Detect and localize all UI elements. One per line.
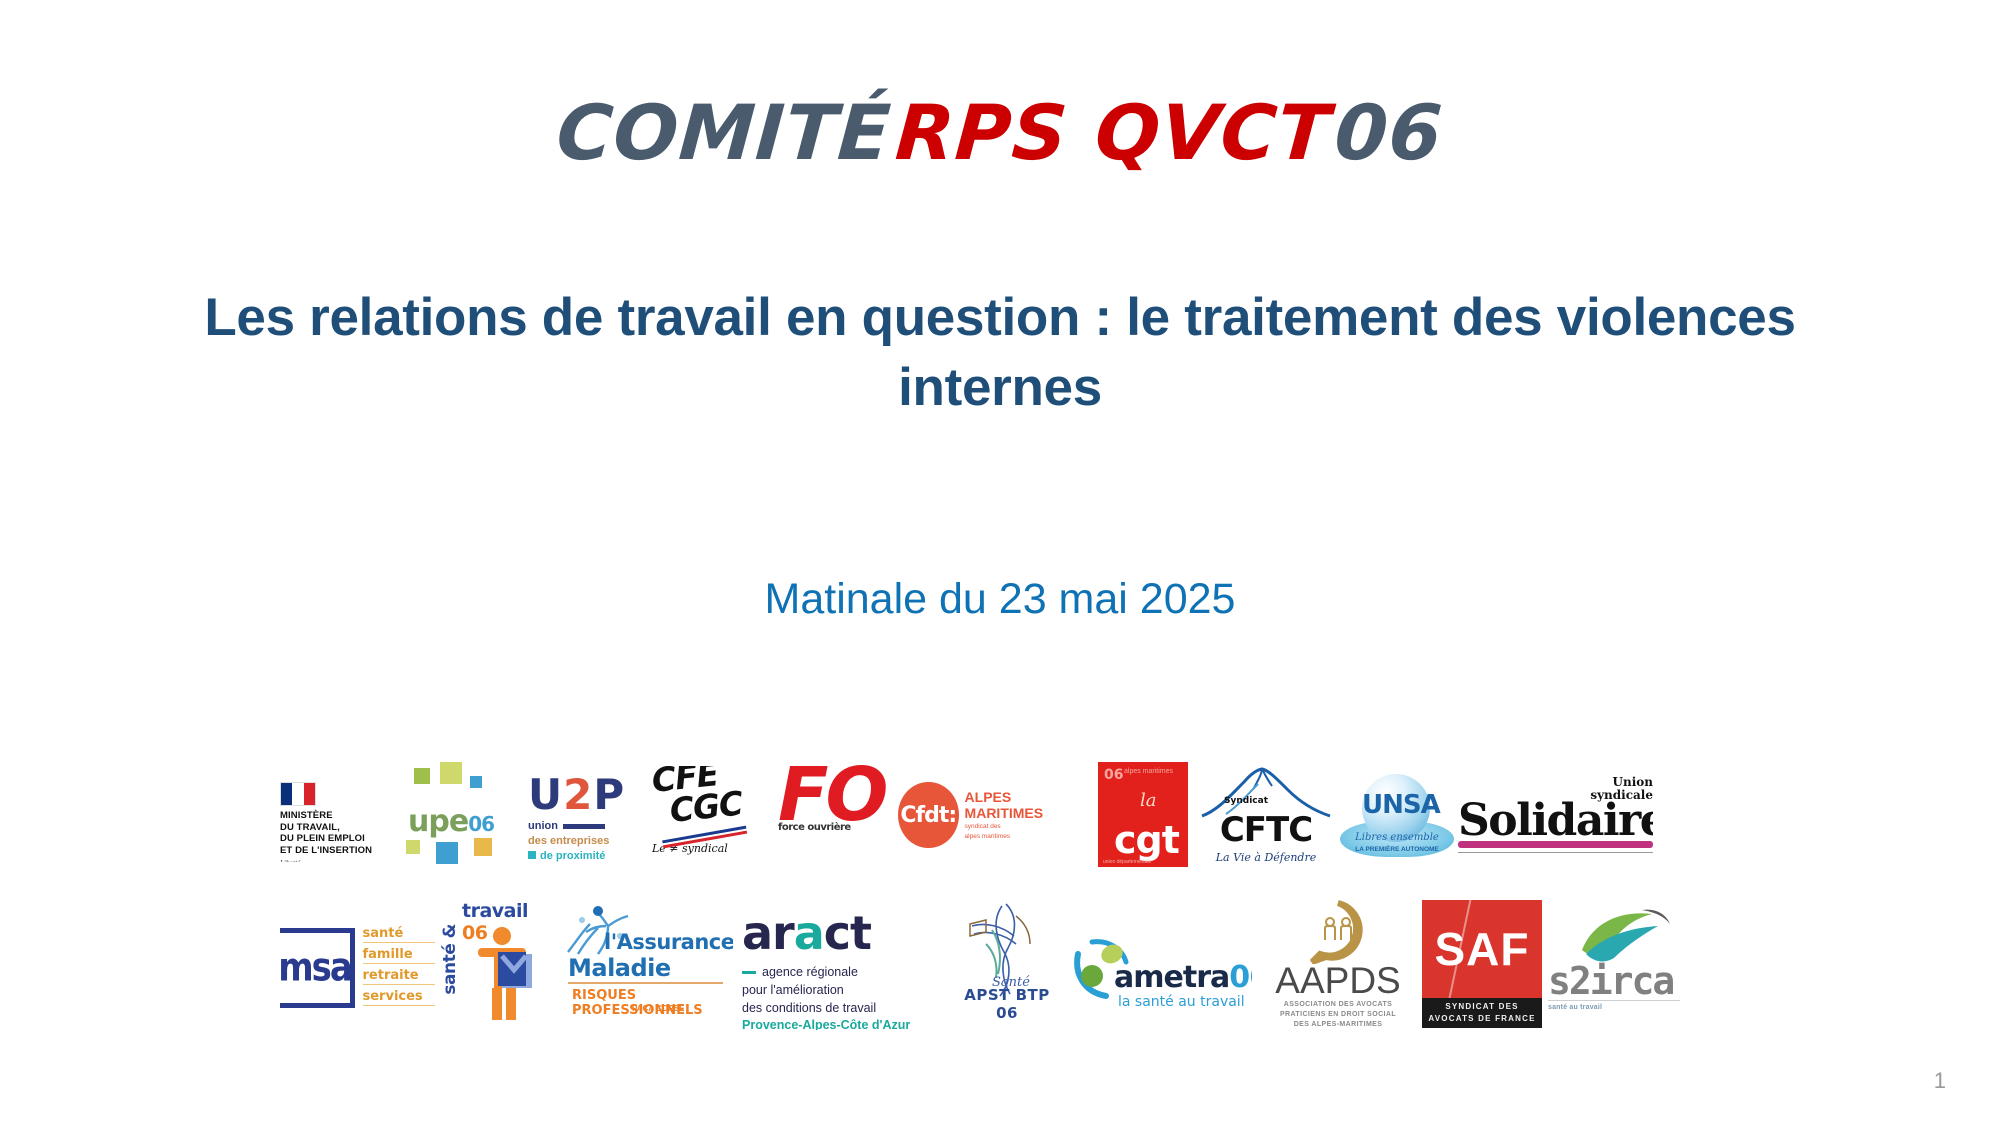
title-part-comite: COMITÉ	[554, 88, 894, 177]
upe-square-1	[414, 768, 430, 784]
aapds-people-icon	[1306, 900, 1370, 964]
fo-wordmark: FO	[778, 764, 890, 826]
cgt-la: la	[1140, 790, 1157, 811]
upe-square-2	[440, 762, 462, 784]
msa-mark: msa	[280, 928, 355, 1008]
presentation-slide: COMITÉ RPS QVCT 06 Les relations de trav…	[0, 0, 2000, 1126]
cfe-line-2: CGC	[668, 786, 770, 827]
saf-logo: SAF SYNDICAT DES AVOCATS DE FRANCE	[1422, 900, 1542, 1028]
msa-word-famille: famille	[363, 947, 436, 964]
unsa-tagline-2: LA PREMIÈRE AUTONOME	[1338, 846, 1456, 853]
st-worker-icon	[472, 926, 538, 1022]
ministere-line-4: ET DE L'INSERTION	[280, 845, 390, 857]
slide-title: COMITÉ RPS QVCT 06	[0, 88, 2000, 177]
ametra-tagline: la santé au travail	[1118, 994, 1245, 1010]
force-ouvriere-logo: FO force ouvrière	[778, 764, 890, 866]
msa-logo: msa santé famille retraite services	[280, 922, 435, 1014]
saf-letters: SAF	[1435, 922, 1530, 976]
cgt-dept: 06	[1104, 768, 1123, 782]
u2p-logo: U2P union des entreprises de proximité	[528, 774, 643, 866]
saf-sub-1: SYNDICAT DES	[1445, 1001, 1518, 1013]
solidaires-rule	[1458, 852, 1653, 853]
title-part-rps-qvct: RPS QVCT	[893, 88, 1334, 177]
st-sante-word: santé &	[440, 924, 460, 995]
assurance-line-3: RISQUES PROFESSIONNELS	[572, 988, 733, 1018]
page-number: 1	[1934, 1068, 1946, 1094]
apst-label: APST BTP 06	[952, 986, 1062, 1022]
logo-row-institutions: MINISTÈRE DU TRAVAIL, DU PLEIN EMPLOI ET…	[280, 762, 1650, 867]
u2p-sub-2: des entreprises	[528, 834, 643, 849]
solidaires-logo: Union syndicale Solidaires	[1458, 776, 1653, 860]
s2irca-logo: s2irca santé au travail	[1548, 900, 1680, 1028]
aract-line-4: Provence-Alpes-Côte d'Azur	[742, 1017, 937, 1030]
assurance-rule	[568, 982, 723, 984]
aract-line-3: des conditions de travail	[742, 1000, 937, 1018]
slide-subtitle: Les relations de travail en question : l…	[150, 283, 1850, 423]
ministere-line-3: DU PLEIN EMPLOI	[280, 833, 390, 845]
ministere-line-2: DU TRAVAIL,	[280, 822, 390, 834]
cftc-logo: Syndicat CFTC La Vie à Défendre	[1196, 766, 1336, 866]
cgt-footer: union départementale	[1103, 859, 1151, 865]
cfdt-region: ALPES MARITIMES	[965, 789, 1083, 821]
upe-square-6	[474, 838, 492, 856]
cftc-mountain-icon: Syndicat	[1196, 766, 1336, 818]
s2irca-swoosh-icon	[1572, 904, 1672, 962]
s2irca-tagline: santé au travail	[1548, 1004, 1680, 1011]
aract-wordmark: aract	[742, 910, 937, 956]
cgt-wordmark: cgt	[1114, 821, 1179, 859]
ministere-travail-logo: MINISTÈRE DU TRAVAIL, DU PLEIN EMPLOI ET…	[280, 782, 390, 862]
aapds-sub-1: ASSOCIATION DES AVOCATS	[1258, 1000, 1418, 1010]
u2p-sub-1: union	[528, 820, 558, 832]
cfe-cgc-logo: CFE CGC Le ≠ syndical	[652, 766, 770, 866]
aapds-logo: AAPDS ASSOCIATION DES AVOCATS PRATICIENS…	[1258, 900, 1418, 1028]
unsa-logo: UNSA Libres ensemble LA PREMIÈRE AUTONOM…	[1338, 770, 1456, 865]
upe-square-3	[470, 776, 482, 788]
slide-date: Matinale du 23 mai 2025	[0, 575, 2000, 624]
saf-mark: SAF	[1422, 900, 1542, 998]
sante-travail-06-logo: travail 06 santé &	[438, 900, 543, 1030]
assurance-maladie-logo: l'Assurance Maladie RISQUES PROFESSIONNE…	[558, 902, 733, 1030]
upe06-logo: upe06	[400, 762, 520, 867]
aract-logo: aract agence régionale pour l'améliorati…	[742, 910, 937, 1030]
upe-square-5	[436, 842, 458, 864]
ministere-line-1: MINISTÈRE	[280, 810, 390, 822]
ametra06-logo: ametra06 la santé au travail	[1072, 932, 1252, 1028]
assurance-line-4: PACA CORSE	[632, 1004, 684, 1013]
devise-liberte: Liberté	[280, 859, 390, 862]
s2irca-rule	[1548, 1000, 1680, 1001]
cftc-tagline: La Vie à Défendre	[1196, 851, 1336, 864]
assurance-line-2: Maladie	[568, 954, 671, 982]
aapds-wordmark: AAPDS	[1258, 962, 1418, 999]
s2irca-wordmark: s2irca	[1548, 962, 1680, 1000]
msa-word-retraite: retraite	[363, 968, 436, 985]
saf-sub-2: AVOCATS DE FRANCE	[1428, 1013, 1535, 1025]
cgt-logo: 06 alpes maritimes la cgt union départem…	[1098, 762, 1188, 867]
aapds-sub-2: PRATICIENS EN DROIT SOCIAL	[1258, 1010, 1418, 1020]
unsa-wordmark: UNSA	[1362, 790, 1430, 820]
solidaires-wordmark: Solidaires	[1458, 800, 1653, 842]
upe-wordmark: upe06	[408, 804, 494, 839]
cfdt-small-2: alpes maritimes	[965, 833, 1083, 841]
apst-btp-06-logo: Santé APST BTP 06	[952, 900, 1062, 1028]
msa-letters: msa	[280, 948, 351, 987]
french-flag-icon	[280, 782, 316, 806]
upe-square-4	[406, 840, 420, 854]
title-part-06: 06	[1332, 88, 1446, 177]
cfdt-logo: Cfdt: ALPES MARITIMES syndicat des alpes…	[898, 780, 1083, 850]
aract-line-1: agence régionale	[762, 965, 858, 979]
assurance-line-1: l'Assurance	[604, 930, 733, 954]
cfdt-small-1: syndicat des	[965, 823, 1083, 831]
logo-row-organismes: msa santé famille retraite services trav…	[280, 900, 1650, 1030]
unsa-tagline-1: Libres ensemble	[1338, 832, 1456, 843]
u2p-sub-3: de proximité	[540, 850, 605, 862]
aract-line-2: pour l'amélioration	[742, 982, 937, 1000]
msa-word-sante: santé	[363, 926, 436, 943]
u2p-wordmark: U2P	[528, 774, 643, 816]
partner-logos: MINISTÈRE DU TRAVAIL, DU PLEIN EMPLOI ET…	[280, 762, 1650, 1062]
cgt-region: alpes maritimes	[1124, 768, 1173, 775]
cftc-syndicat-label: Syndicat	[1224, 796, 1268, 806]
msa-word-services: services	[363, 989, 436, 1006]
aapds-sub-3: DES ALPES-MARITIMES	[1258, 1020, 1418, 1028]
cfdt-wordmark: Cfdt:	[898, 782, 959, 848]
ametra-wordmark: ametra06	[1114, 960, 1252, 995]
